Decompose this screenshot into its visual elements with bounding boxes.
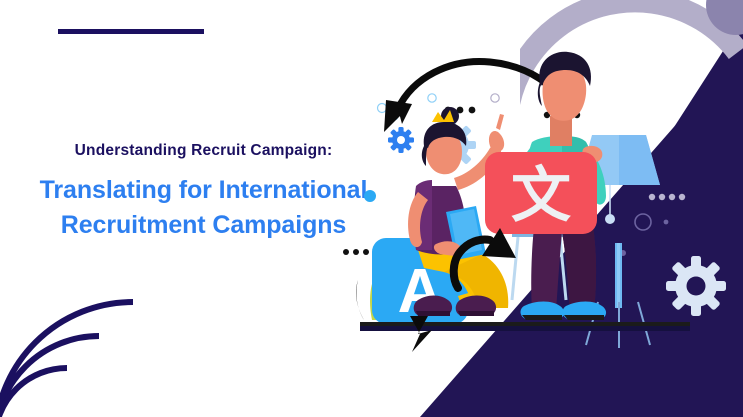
gear-small-icon: [388, 127, 414, 153]
translate-card-glyph: 文: [511, 161, 571, 231]
top-accent-rule: [58, 29, 204, 34]
floor-line: [360, 322, 690, 331]
corner-arc-decoration: [0, 296, 180, 417]
translate-card: 文: [485, 152, 597, 234]
dot-decor-left: [343, 104, 399, 256]
gear-white-icon: [666, 256, 726, 316]
slide-canvas: Understanding Recruit Campaign: Translat…: [0, 0, 743, 417]
translation-illustration: A: [340, 0, 743, 417]
dot-decor-top: [428, 94, 499, 114]
